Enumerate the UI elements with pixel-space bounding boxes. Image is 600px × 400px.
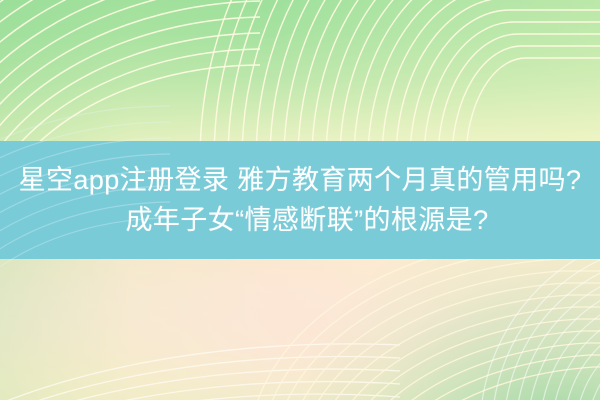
headline-line-2: 成年子女“情感断联”的根源是? [112, 200, 489, 240]
headline-text: 星空app注册登录 雅方教育两个月真的管用吗? 成年子女“情感断联”的根源是? [0, 141, 600, 259]
headline-line-1: 星空app注册登录 雅方教育两个月真的管用吗? [19, 160, 582, 200]
promo-banner: 星空app注册登录 雅方教育两个月真的管用吗? 成年子女“情感断联”的根源是? [0, 0, 600, 400]
